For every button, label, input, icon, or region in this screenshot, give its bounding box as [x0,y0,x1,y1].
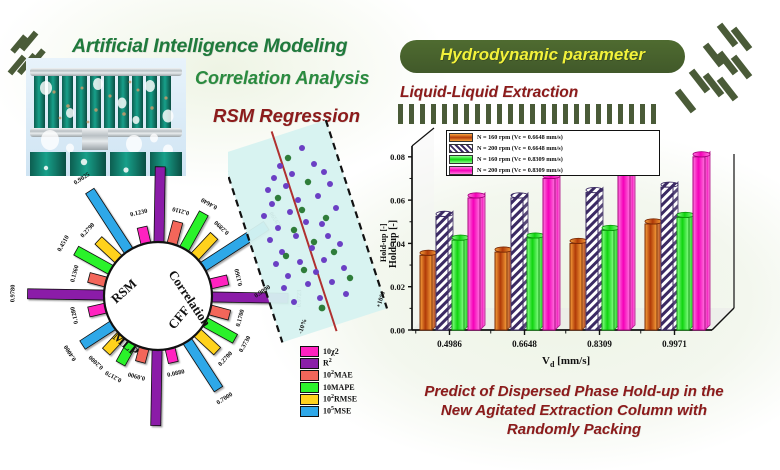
bar-chart-bar [468,193,485,330]
radar-bar [167,221,183,246]
agitated-extraction-column-illustration [26,58,186,176]
bar-chart-xtick: 0.4986 [437,339,462,349]
bar-legend-item: N = 160 rpm (Vc = 0.6648 mm/s) [449,132,659,142]
radar-legend-label: 102RMSE [323,394,357,404]
bar-legend-swatch [449,144,473,153]
bar-legend-item: N = 200 rpm (Vc = 0.6648 mm/s) [449,143,659,153]
radar-legend-item: 102RMSE [300,393,386,405]
radar-legend-swatch [300,406,319,417]
bar-chart-xtick: 0.6648 [512,339,537,349]
radar-chart-legend: 10χ2R2102MAE10MAPE102RMSE105MSE [300,345,386,427]
bar-chart-xtick: 0.8309 [587,339,612,349]
radar-legend-swatch [300,382,319,393]
bar-chart-bar [436,211,453,330]
heading-correlation-analysis: Correlation Analysis [195,68,435,89]
caption-line-3: Randomly Packing [378,420,770,439]
bar-legend-item: N = 200 rpm (Vc = 0.8309 mm/s) [449,165,659,175]
graphical-abstract: Artificial Intelligence Modeling Correla… [0,0,780,470]
radar-legend-item: 102MAE [300,369,386,381]
radar-bar-value-label: 0.4000 [63,344,78,363]
radar-legend-label: R2 [323,358,332,368]
bar-legend-swatch [449,166,473,175]
bar-chart-ytick: 0.06 [390,196,405,206]
bar-legend-label: N = 200 rpm (Vc = 0.6648 mm/s) [477,145,563,152]
radar-bar-value-label: 0.7000 [215,391,234,406]
radar-legend-swatch [300,358,319,369]
caption-line-1: Predict of Dispersed Phase Hold-up in th… [378,382,770,401]
bar-chart-bar [645,219,662,330]
radar-bar-value-label: 0.4510 [56,234,71,253]
radar-bar-value-label: 0.4640 [200,196,219,211]
bar-legend-label: N = 160 rpm (Vc = 0.6648 mm/s) [477,134,563,141]
radar-legend-item: 10MAPE [300,381,386,393]
bar-chart-bar [420,250,437,330]
radar-legend-swatch [300,394,319,405]
radar-bar [209,275,228,289]
radar-legend-swatch [300,370,319,381]
bar-chart-bar [495,247,512,330]
radar-bar-value-label: 0.1360 [69,264,80,283]
bar-chart-bar [586,187,603,330]
radar-bar [151,350,162,426]
heading-ai-modeling: Artificial Intelligence Modeling [72,36,372,56]
radar-bar-value-label: 0.0880 [167,368,186,379]
bar-chart-bar [527,233,544,330]
hatch-decor-top-right [690,20,770,130]
radar-bar-value-label: 0.2170 [104,369,123,384]
bar-legend-item: N = 160 rpm (Vc = 0.8309 mm/s) [449,154,659,164]
radar-bar-value-label: 0.2790 [79,222,96,240]
caption-line-2: New Agitated Extraction Column with [378,401,770,420]
radar-legend-label: 102MAE [323,370,353,380]
bar-legend-label: N = 200 rpm (Vc = 0.8309 mm/s) [477,167,563,174]
radar-bar-value-label: 0.2000 [87,354,105,371]
radar-legend-item: 105MSE [300,405,386,417]
radar-bar-value-label: 0.1280 [69,306,80,325]
bar-legend-swatch [449,155,473,164]
heading-liquid-liquid-extraction: Liquid-Liquid Extraction [400,84,700,102]
bar-chart-bar [452,235,469,330]
bar-chart-bar [661,182,678,330]
bar-chart-ylabel: Hold-up [-] [388,220,399,268]
heading-hydrodynamic-parameter: Hydrodynamic parameter [400,45,685,65]
bar-chart-bar [511,193,528,330]
bar-chart-legend: N = 160 rpm (Vc = 0.6648 mm/s)N = 200 rp… [446,130,660,176]
radar-bar [27,289,104,300]
radar-bar-value-label: 0.0900 [127,370,146,381]
parity-scatter-plot: +10% -10% 0.9090 Hold-up [-] [228,112,408,352]
abstract-caption: Predict of Dispersed Phase Hold-up in th… [378,382,770,440]
radar-bar-value-label: 0.9780 [9,285,16,303]
bar-chart-ytick: 0.02 [390,282,405,292]
bar-chart-xlabel: Vd [mm/s] [542,355,590,368]
radar-legend-label: 105MSE [323,406,351,416]
radar-bar-value-label: 0.1230 [130,208,149,219]
bar-chart-bar [693,152,710,330]
radar-legend-item: R2 [300,357,386,369]
radar-bar-value-label: 0.2700 [217,350,234,368]
bar-legend-swatch [449,133,473,142]
bar-chart-xtick: 0.9971 [662,339,687,349]
radar-bar [154,167,165,242]
bar-chart-bar [618,165,635,330]
radar-bar-value-label: 0.2110 [172,205,190,216]
radar-bar-value-label: 0.9025 [73,171,92,186]
bar-chart-bar [570,238,587,330]
bar-chart-bar [543,173,560,330]
bar-chart-ytick: 0.08 [390,152,405,162]
bar-chart-bar [677,212,694,330]
bar-chart-ytick: 0.00 [390,325,405,335]
bar-chart-bar [602,225,619,330]
radar-legend-label: 10MAPE [323,383,355,392]
bar-legend-label: N = 160 rpm (Vc = 0.8309 mm/s) [477,156,563,163]
